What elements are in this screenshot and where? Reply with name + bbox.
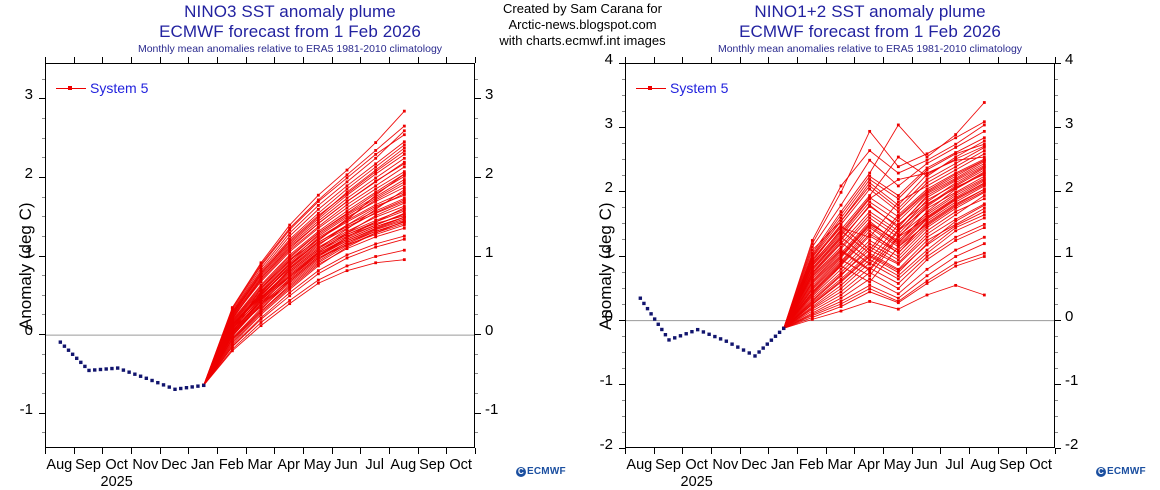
x-tick-top — [1026, 57, 1027, 63]
y-tick-major — [475, 256, 481, 257]
y-tick-label-left: -1 — [3, 405, 33, 415]
y-tick-minor — [475, 216, 478, 217]
y-tick-minor — [1055, 79, 1058, 80]
y-tick-minor — [622, 143, 625, 144]
y-tick-minor — [622, 95, 625, 96]
plot-area-right — [625, 63, 1055, 448]
y-tick-minor — [42, 275, 45, 276]
x-tick-top — [332, 57, 333, 63]
x-tick-top — [188, 57, 189, 63]
x-tick — [654, 448, 655, 454]
y-tick-minor — [42, 432, 45, 433]
y-tick-minor — [475, 432, 478, 433]
x-tick-top — [912, 57, 913, 63]
y-tick-minor — [1055, 352, 1058, 353]
y-tick-label-left: 3 — [3, 90, 33, 100]
y-tick-major — [39, 413, 45, 414]
x-tick-top — [131, 57, 132, 63]
ecmwf-logo-text-right: ECMWF — [1107, 466, 1146, 477]
x-axis-year-label: 2025 — [92, 474, 141, 490]
y-tick-label-right: 3 — [485, 90, 515, 100]
x-tick-top — [1055, 57, 1056, 63]
y-tick-minor — [1055, 223, 1058, 224]
y-tick-minor — [622, 79, 625, 80]
y-tick-minor — [42, 197, 45, 198]
y-tick-minor — [1055, 432, 1058, 433]
y-tick-minor — [1055, 368, 1058, 369]
y-tick-label-left: -1 — [583, 376, 613, 386]
y-tick-major — [475, 98, 481, 99]
y-tick-minor — [475, 354, 478, 355]
y-tick-major — [1055, 320, 1061, 321]
y-tick-minor — [622, 175, 625, 176]
x-tick-top — [246, 57, 247, 63]
y-tick-minor — [475, 275, 478, 276]
x-tick — [246, 448, 247, 454]
x-tick — [188, 448, 189, 454]
y-tick-minor — [622, 288, 625, 289]
x-tick — [303, 448, 304, 454]
legend-line-marker-icon — [56, 84, 86, 92]
y-tick-major — [39, 98, 45, 99]
x-tick-top — [711, 57, 712, 63]
x-tick — [711, 448, 712, 454]
y-tick-major — [39, 334, 45, 335]
y-tick-minor — [42, 354, 45, 355]
y-tick-minor — [1055, 304, 1058, 305]
x-tick-top — [883, 57, 884, 63]
y-tick-minor — [1055, 95, 1058, 96]
x-tick-top — [360, 57, 361, 63]
y-tick-minor — [622, 111, 625, 112]
y-tick-major — [619, 191, 625, 192]
x-tick-top — [969, 57, 970, 63]
y-tick-minor — [622, 416, 625, 417]
y-tick-label-left: 1 — [583, 248, 613, 258]
attribution-line-1: Created by Sam Carana for — [480, 1, 685, 17]
y-tick-major — [619, 63, 625, 64]
chart-page: NINO3 SST anomaly plume ECMWF forecast f… — [0, 0, 1160, 481]
y-tick-minor — [1055, 272, 1058, 273]
x-tick — [418, 448, 419, 454]
y-tick-label-right: -1 — [1065, 376, 1095, 386]
legend-label-right: System 5 — [670, 80, 728, 96]
x-tick — [940, 448, 941, 454]
x-tick-top — [797, 57, 798, 63]
legend-left: System 5 — [56, 80, 148, 96]
y-tick-minor — [42, 373, 45, 374]
y-tick-major — [475, 413, 481, 414]
y-tick-label-left: 0 — [3, 326, 33, 336]
x-tick-top — [303, 57, 304, 63]
y-tick-minor — [475, 118, 478, 119]
x-tick-top — [682, 57, 683, 63]
y-tick-major — [475, 177, 481, 178]
ecmwf-c-icon: C — [1096, 467, 1106, 477]
y-tick-minor — [42, 236, 45, 237]
y-tick-minor — [42, 216, 45, 217]
ecmwf-c-icon: C — [516, 467, 526, 477]
y-tick-minor — [622, 159, 625, 160]
x-tick-top — [45, 57, 46, 63]
x-tick-top — [940, 57, 941, 63]
y-tick-minor — [622, 207, 625, 208]
x-tick — [797, 448, 798, 454]
x-tick-top — [160, 57, 161, 63]
y-tick-major — [1055, 256, 1061, 257]
y-tick-minor — [475, 138, 478, 139]
y-tick-minor — [475, 79, 478, 80]
y-tick-minor — [1055, 336, 1058, 337]
y-tick-minor — [475, 393, 478, 394]
y-tick-minor — [42, 138, 45, 139]
x-tick — [475, 448, 476, 454]
x-tick — [912, 448, 913, 454]
x-axis-year-label: 2025 — [672, 474, 721, 490]
x-tick-top — [217, 57, 218, 63]
y-tick-minor — [42, 314, 45, 315]
x-tick — [854, 448, 855, 454]
y-tick-major — [619, 384, 625, 385]
data-layer-left — [46, 64, 475, 448]
plot-area-left — [45, 63, 475, 448]
y-tick-label-right: -2 — [1065, 440, 1095, 450]
x-tick — [682, 448, 683, 454]
y-tick-minor — [475, 314, 478, 315]
x-tick-top — [418, 57, 419, 63]
x-tick — [131, 448, 132, 454]
x-tick-top — [102, 57, 103, 63]
y-tick-minor — [1055, 111, 1058, 112]
y-tick-minor — [1055, 143, 1058, 144]
x-tick-top — [998, 57, 999, 63]
x-tick — [998, 448, 999, 454]
data-layer-right — [626, 64, 1055, 448]
y-tick-major — [39, 256, 45, 257]
x-tick-top — [274, 57, 275, 63]
y-tick-major — [619, 320, 625, 321]
x-tick — [360, 448, 361, 454]
y-tick-minor — [42, 79, 45, 80]
y-tick-minor — [622, 304, 625, 305]
x-tick-top — [475, 57, 476, 63]
y-tick-major — [619, 256, 625, 257]
x-tick — [1055, 448, 1056, 454]
y-tick-major — [619, 127, 625, 128]
y-tick-label-left: 3 — [583, 119, 613, 129]
x-tick — [160, 448, 161, 454]
x-tick-top — [740, 57, 741, 63]
y-tick-major — [1055, 63, 1061, 64]
y-tick-minor — [475, 197, 478, 198]
y-tick-label-right: 0 — [1065, 312, 1095, 322]
x-tick-top — [446, 57, 447, 63]
y-tick-label-right: 1 — [485, 248, 515, 258]
y-tick-label-right: 1 — [1065, 248, 1095, 258]
y-tick-minor — [622, 336, 625, 337]
y-tick-label-left: 1 — [3, 248, 33, 258]
y-tick-minor — [622, 223, 625, 224]
y-tick-minor — [42, 295, 45, 296]
x-tick — [102, 448, 103, 454]
ecmwf-logo-left: C ECMWF — [516, 466, 566, 477]
y-tick-label-right: -1 — [485, 405, 515, 415]
y-tick-minor — [622, 400, 625, 401]
x-tick — [826, 448, 827, 454]
y-tick-minor — [1055, 207, 1058, 208]
legend-right: System 5 — [636, 80, 728, 96]
y-tick-major — [39, 177, 45, 178]
x-tick-label: Oct — [1016, 457, 1065, 473]
x-tick-top — [768, 57, 769, 63]
legend-line-marker-icon — [636, 84, 666, 92]
y-tick-minor — [1055, 159, 1058, 160]
y-tick-label-left: 2 — [3, 169, 33, 179]
x-tick — [217, 448, 218, 454]
y-tick-label-right: 2 — [485, 169, 515, 179]
ecmwf-logo-right: C ECMWF — [1096, 466, 1146, 477]
y-tick-major — [475, 334, 481, 335]
y-tick-minor — [1055, 400, 1058, 401]
y-tick-label-right: 2 — [1065, 183, 1095, 193]
x-tick-top — [625, 57, 626, 63]
x-tick-top — [826, 57, 827, 63]
y-tick-minor — [622, 272, 625, 273]
x-tick-top — [854, 57, 855, 63]
y-axis-label-left: Anomaly (deg C) — [16, 202, 36, 330]
x-tick — [969, 448, 970, 454]
y-tick-major — [1055, 127, 1061, 128]
x-tick-top — [74, 57, 75, 63]
y-tick-minor — [475, 373, 478, 374]
y-tick-label-left: 0 — [583, 312, 613, 322]
y-tick-label-left: 4 — [583, 55, 613, 65]
x-tick — [45, 448, 46, 454]
y-tick-minor — [622, 239, 625, 240]
y-tick-label-right: 0 — [485, 326, 515, 336]
y-tick-minor — [42, 157, 45, 158]
y-tick-label-right: 3 — [1065, 119, 1095, 129]
attribution-line-3: with charts.ecmwf.int images — [480, 33, 685, 49]
legend-label-left: System 5 — [90, 80, 148, 96]
x-tick-label: Oct — [436, 457, 485, 473]
y-tick-major — [1055, 191, 1061, 192]
x-tick — [446, 448, 447, 454]
y-tick-minor — [622, 368, 625, 369]
x-tick — [883, 448, 884, 454]
x-tick — [332, 448, 333, 454]
y-tick-label-left: 2 — [583, 183, 613, 193]
x-tick — [389, 448, 390, 454]
y-tick-minor — [622, 352, 625, 353]
ecmwf-logo-text-left: ECMWF — [527, 466, 566, 477]
y-tick-minor — [622, 432, 625, 433]
y-tick-label-right: 4 — [1065, 55, 1095, 65]
x-tick — [740, 448, 741, 454]
x-tick — [625, 448, 626, 454]
x-tick — [1026, 448, 1027, 454]
y-tick-minor — [475, 295, 478, 296]
x-tick — [274, 448, 275, 454]
y-tick-minor — [1055, 175, 1058, 176]
x-tick — [74, 448, 75, 454]
y-tick-minor — [42, 118, 45, 119]
y-tick-minor — [1055, 416, 1058, 417]
x-tick-top — [389, 57, 390, 63]
y-tick-label-left: -2 — [583, 440, 613, 450]
x-tick-top — [654, 57, 655, 63]
y-tick-minor — [475, 236, 478, 237]
attribution-line-2: Arctic-news.blogspot.com — [480, 17, 685, 33]
x-tick — [768, 448, 769, 454]
y-tick-minor — [1055, 288, 1058, 289]
y-tick-minor — [1055, 239, 1058, 240]
y-tick-major — [1055, 384, 1061, 385]
y-tick-minor — [42, 393, 45, 394]
y-tick-minor — [475, 157, 478, 158]
attribution-block: Created by Sam Carana for Arctic-news.bl… — [480, 1, 685, 49]
